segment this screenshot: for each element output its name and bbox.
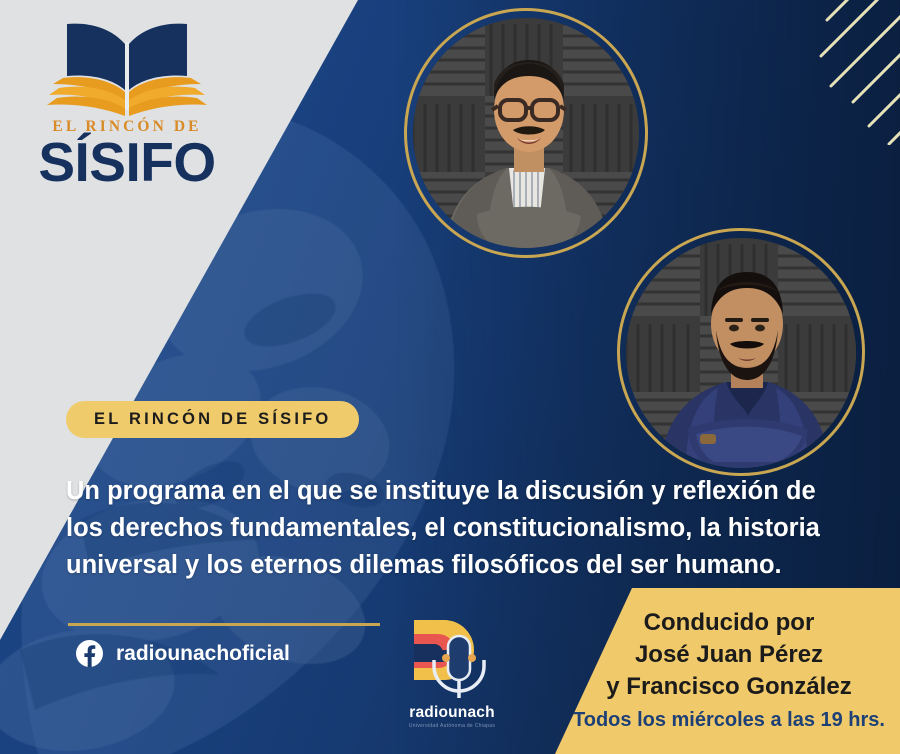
card-line-2: José Juan Pérez — [566, 639, 892, 671]
facebook-social-row[interactable]: radiounachoficial — [76, 640, 290, 667]
radiounach-tagline: Universidad Autónoma de Chiapas — [388, 723, 516, 729]
description-line-1: Un programa en el que se instituye la di… — [66, 473, 856, 510]
card-line-3: y Francisco González — [566, 671, 892, 703]
program-badge-label: EL RINCÓN DE SÍSIFO — [94, 410, 331, 429]
poster-canvas: EL RINCÓN DE SÍSIFO — [0, 0, 900, 754]
diagonal-stripes-decoration — [765, 0, 900, 145]
description-line-3: universal y los eternos dilemas filosófi… — [66, 547, 856, 584]
gold-divider — [68, 623, 380, 626]
host-portrait-one — [413, 18, 639, 248]
logo-wordmark: SÍSIFO — [22, 137, 232, 188]
program-logo: EL RINCÓN DE SÍSIFO — [22, 18, 232, 188]
description-line-2: los derechos fundamentales, el constituc… — [66, 510, 856, 547]
card-schedule: Todos los miércoles a las 19 hrs. — [566, 709, 892, 732]
radiounach-microphone-logo — [400, 614, 504, 702]
host-portrait-two — [626, 238, 856, 468]
open-book-icon — [41, 18, 213, 116]
facebook-handle[interactable]: radiounachoficial — [116, 642, 290, 666]
radiounach-logo: radiounach Universidad Autónoma de Chiap… — [388, 614, 516, 729]
program-description: Un programa en el que se instituye la di… — [66, 473, 856, 584]
radiounach-wordmark: radiounach — [388, 704, 516, 722]
program-badge: EL RINCÓN DE SÍSIFO — [66, 401, 359, 438]
facebook-icon[interactable] — [76, 640, 103, 667]
